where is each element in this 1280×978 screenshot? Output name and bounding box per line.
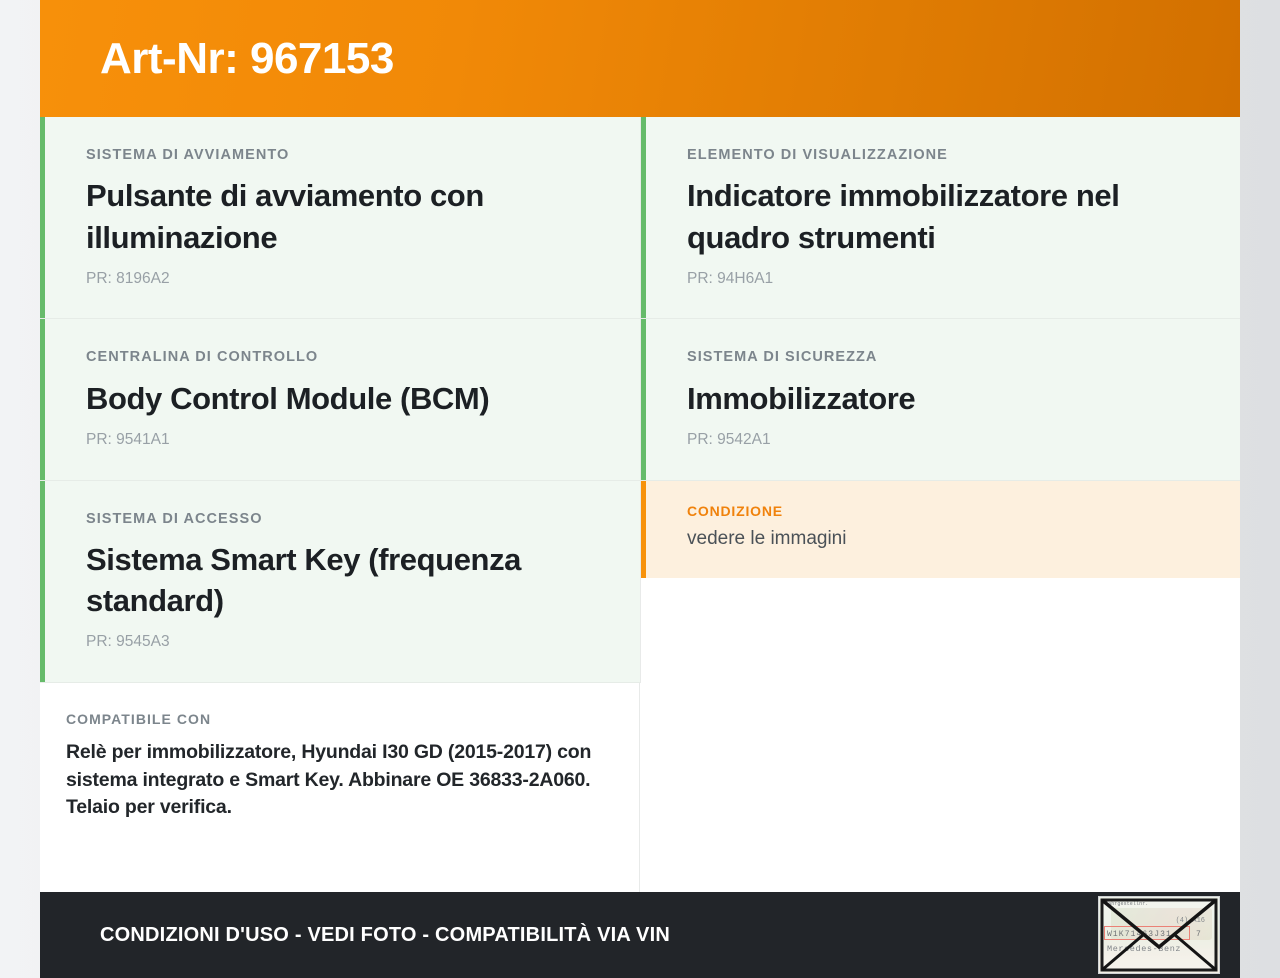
compatibility-eyebrow: COMPATIBILE CON <box>66 711 594 727</box>
spec-card-title: Body Control Module (BCM) <box>86 378 595 419</box>
spec-card-title: Pulsante di avviamento con illuminazione <box>86 175 595 257</box>
vin-document-badge[interactable]: Fahrgestellnr. (4) A16 W1K71463J31 7 Mer… <box>1098 896 1220 974</box>
page-filler-left <box>40 848 640 892</box>
spec-card-eyebrow: SISTEMA DI ACCESSO <box>86 511 595 528</box>
page-header: Art-Nr: 967153 <box>40 0 1240 117</box>
spec-card-pr-code: PR: 94H6A1 <box>687 270 1195 289</box>
spec-card-avviamento[interactable]: SISTEMA DI AVVIAMENTO Pulsante di avviam… <box>40 117 640 319</box>
compatibility-section: COMPATIBILE CON Relè per immobilizzatore… <box>40 683 640 848</box>
spec-column-left: SISTEMA DI AVVIAMENTO Pulsante di avviam… <box>40 117 640 683</box>
spec-card-sicurezza[interactable]: SISTEMA DI SICUREZZA Immobilizzatore PR:… <box>641 319 1240 480</box>
condition-value: vedere le immagini <box>687 527 1195 552</box>
spec-card-pr-code: PR: 9541A1 <box>86 431 595 450</box>
spec-card-pr-code: PR: 9545A3 <box>86 633 595 652</box>
right-column-spacer <box>641 578 1240 683</box>
spec-card-centralina[interactable]: CENTRALINA DI CONTROLLO Body Control Mod… <box>40 319 640 480</box>
product-detail-page: Art-Nr: 967153 SISTEMA DI AVVIAMENTO Pul… <box>40 0 1240 978</box>
spec-card-pr-code: PR: 9542A1 <box>687 431 1195 450</box>
spec-card-eyebrow: CENTRALINA DI CONTROLLO <box>86 349 595 366</box>
page-filler <box>40 848 1240 892</box>
spec-card-pr-code: PR: 8196A2 <box>86 270 595 289</box>
spec-card-eyebrow: SISTEMA DI SICUREZZA <box>687 349 1195 366</box>
spec-card-eyebrow: ELEMENTO DI VISUALIZZAZIONE <box>687 147 1195 164</box>
condition-eyebrow: CONDIZIONE <box>687 503 1195 520</box>
footer-notice-text: CONDIZIONI D'USO - VEDI FOTO - COMPATIBI… <box>100 924 670 947</box>
condition-card[interactable]: CONDIZIONE vedere le immagini <box>641 481 1240 578</box>
compatibility-text: Relè per immobilizzatore, Hyundai I30 GD… <box>66 739 594 822</box>
article-number-title: Art-Nr: 967153 <box>100 37 394 81</box>
spec-card-eyebrow: SISTEMA DI AVVIAMENTO <box>86 147 595 164</box>
page-filler-right <box>640 848 1240 892</box>
spec-card-grid: SISTEMA DI AVVIAMENTO Pulsante di avviam… <box>40 117 1240 683</box>
spec-column-right: ELEMENTO DI VISUALIZZAZIONE Indicatore i… <box>640 117 1240 683</box>
spec-card-title: Indicatore immobilizzatore nel quadro st… <box>687 175 1195 257</box>
spec-card-visualizzazione[interactable]: ELEMENTO DI VISUALIZZAZIONE Indicatore i… <box>641 117 1240 319</box>
spec-card-smart-key[interactable]: SISTEMA DI ACCESSO Sistema Smart Key (fr… <box>40 481 640 683</box>
page-footer: CONDIZIONI D'USO - VEDI FOTO - COMPATIBI… <box>40 892 1240 978</box>
spec-card-title: Immobilizzatore <box>687 378 1195 419</box>
spec-card-title: Sistema Smart Key (frequenza standard) <box>86 539 595 621</box>
envelope-icon <box>1099 897 1219 973</box>
